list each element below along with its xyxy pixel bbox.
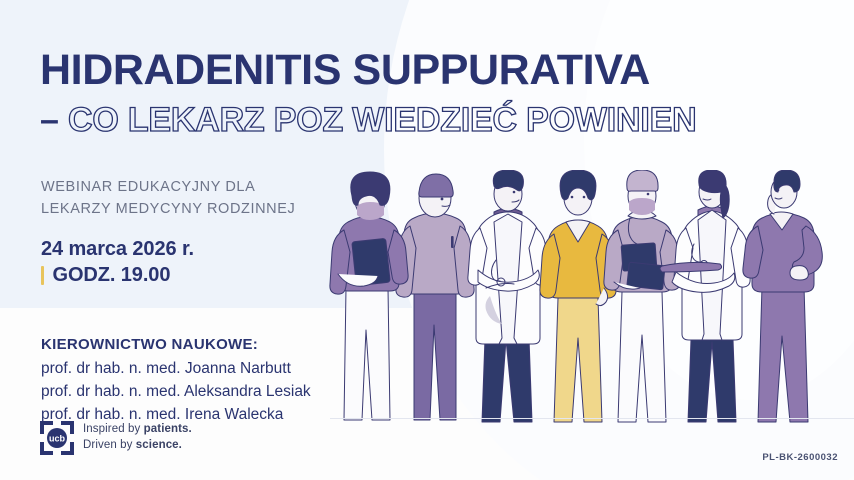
ucb-logo-mark-icon: ucb <box>40 421 74 455</box>
subtitle-line-1: WEBINAR EDUKACYJNY DLA <box>41 176 295 198</box>
poster-title-line-1: HIDRADENITIS SUPPURATIVA <box>40 48 780 93</box>
figure-yellow-sweater <box>540 170 616 422</box>
figure-purple-scrubs-hip <box>743 170 822 422</box>
regulatory-code: PL-BK-2600032 <box>762 452 838 463</box>
event-date: 24 marca 2026 r. <box>41 236 194 262</box>
tagline-2-bold: science. <box>136 439 182 451</box>
ucb-tagline: Inspired by patients. Driven by science. <box>83 422 192 453</box>
figure-nurse-surgical-cap <box>604 170 680 422</box>
poster-title-line-2: – CO LEKARZ POZ WIEDZIEĆ POWINIEN <box>40 101 780 140</box>
title-dash: – <box>40 101 59 139</box>
tagline-1-bold: patients. <box>144 423 192 435</box>
tagline-line-2: Driven by science. <box>83 438 192 454</box>
webinar-poster: HIDRADENITIS SUPPURATIVA – CO LEKARZ POZ… <box>0 0 854 480</box>
figure-male-doctor <box>468 170 548 422</box>
poster-title-block: HIDRADENITIS SUPPURATIVA – CO LEKARZ POZ… <box>40 48 780 140</box>
tagline-1-plain: Inspired by <box>83 423 144 435</box>
floor-line <box>330 418 854 419</box>
figure-nurse-scrubs <box>396 174 474 420</box>
scientific-leadership-block: KIEROWNICTWO NAUKOWE: prof. dr hab. n. m… <box>41 336 311 427</box>
svg-text:ucb: ucb <box>49 434 66 444</box>
time-accent-bar <box>41 266 44 285</box>
title-line-2-text: CO LEKARZ POZ WIEDZIEĆ POWINIEN <box>68 101 696 139</box>
leadership-heading: KIEROWNICTWO NAUKOWE: <box>41 336 311 353</box>
ucb-logo: ucb Inspired by patients. Driven by scie… <box>40 421 192 455</box>
event-datetime-block: 24 marca 2026 r. GODZ. 19.00 <box>41 236 194 287</box>
tagline-line-1: Inspired by patients. <box>83 422 192 438</box>
figure-female-doctor <box>660 170 750 422</box>
subtitle-line-2: LEKARZY MEDYCYNY RODZINNEJ <box>41 198 295 220</box>
poster-subtitle: WEBINAR EDUKACYJNY DLA LEKARZY MEDYCYNY … <box>41 176 295 221</box>
event-time-row: GODZ. 19.00 <box>41 264 194 287</box>
tagline-2-plain: Driven by <box>83 439 136 451</box>
leader-name: prof. dr hab. n. med. Aleksandra Lesiak <box>41 381 311 404</box>
leader-name: prof. dr hab. n. med. Joanna Narbutt <box>41 358 311 381</box>
figure-nurse-clipboard <box>330 172 408 420</box>
event-time: GODZ. 19.00 <box>53 264 171 287</box>
healthcare-team-illustration <box>318 170 854 430</box>
